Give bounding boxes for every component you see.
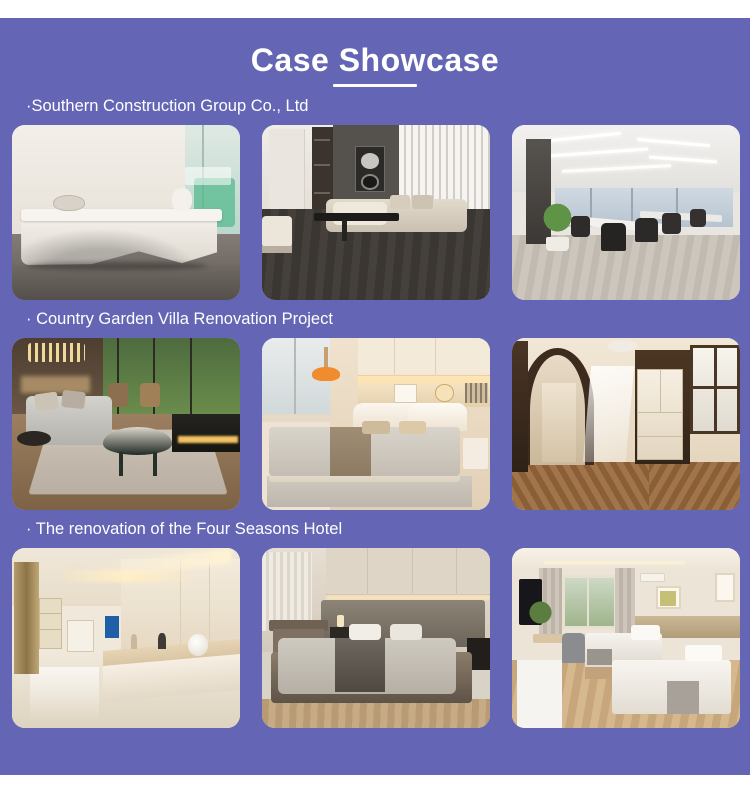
section-label: · The renovation of the Four Seasons Hot… (0, 518, 750, 540)
case-image-hotel-king-room[interactable] (262, 548, 490, 728)
case-image-hotel-twin-room[interactable] (512, 548, 740, 728)
image-grid (0, 548, 750, 728)
hotel-king-room-image (262, 548, 490, 728)
section-country-garden-villa: · Country Garden Villa Renovation Projec… (0, 308, 750, 510)
section-label: · Country Garden Villa Renovation Projec… (0, 308, 750, 330)
section-label: ·Southern Construction Group Co., Ltd (0, 95, 750, 117)
case-image-villa-living-room[interactable] (12, 338, 240, 510)
case-image-open-office[interactable] (512, 125, 740, 300)
case-image-villa-bedroom[interactable] (262, 338, 490, 510)
open-office-image (512, 125, 740, 300)
page-title: Case Showcase (0, 40, 750, 80)
reception-lobby-image (12, 125, 240, 300)
image-grid (0, 338, 750, 510)
section-four-seasons-hotel: · The renovation of the Four Seasons Hot… (0, 518, 750, 728)
image-grid (0, 125, 750, 300)
villa-hallway-image (512, 338, 740, 510)
purple-banner: Case Showcase ·Southern Construction Gro… (0, 18, 750, 775)
hotel-twin-room-image (512, 548, 740, 728)
title-underline (333, 84, 417, 87)
living-room-image (262, 125, 490, 300)
header: Case Showcase (0, 18, 750, 87)
case-showcase-page: Case Showcase ·Southern Construction Gro… (0, 0, 750, 792)
case-image-reception-lobby[interactable] (12, 125, 240, 300)
case-image-hotel-lobby[interactable] (12, 548, 240, 728)
hotel-lobby-image (12, 548, 240, 728)
case-image-villa-hallway[interactable] (512, 338, 740, 510)
villa-bedroom-image (262, 338, 490, 510)
villa-living-room-image (12, 338, 240, 510)
case-image-living-room[interactable] (262, 125, 490, 300)
section-southern-construction: ·Southern Construction Group Co., Ltd (0, 95, 750, 300)
